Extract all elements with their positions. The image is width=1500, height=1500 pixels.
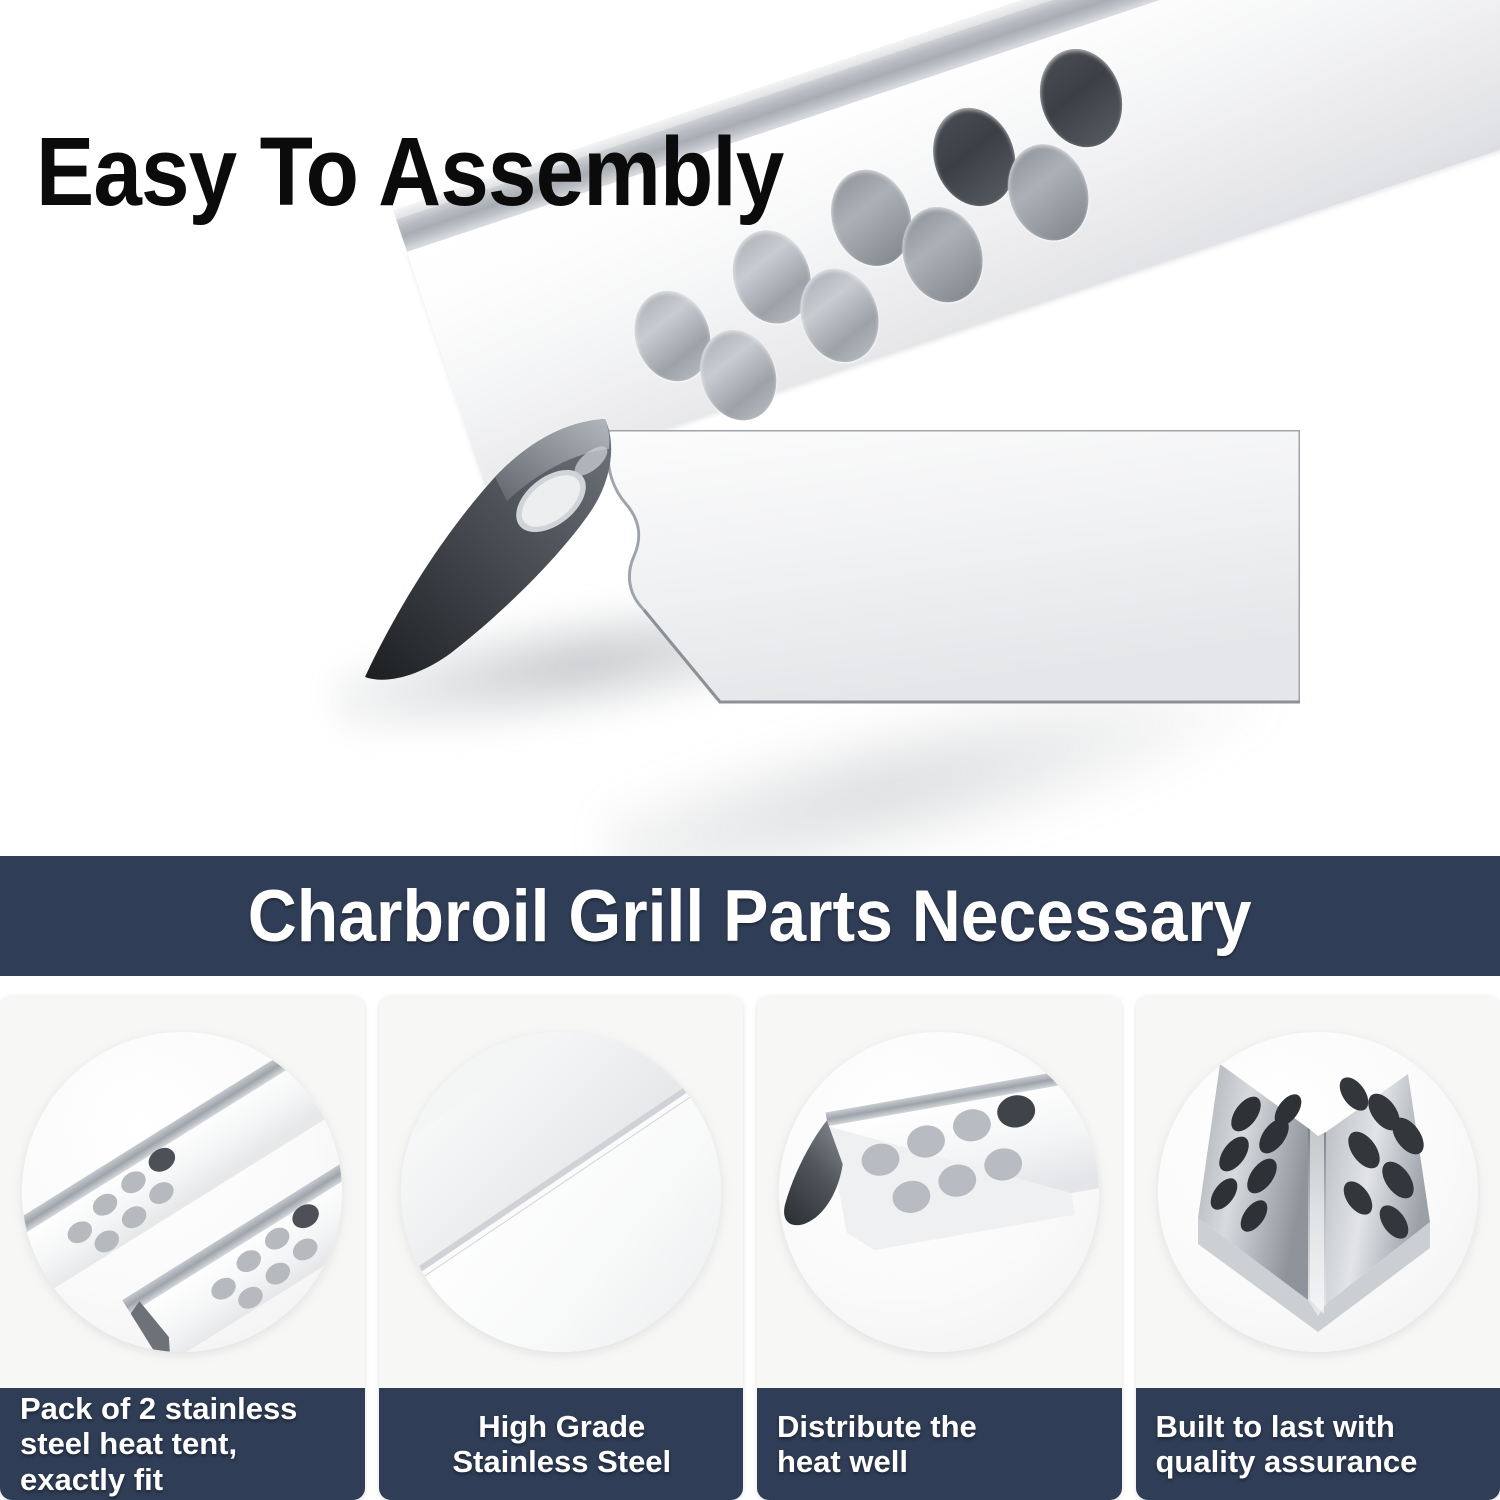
steel-surface-icon: [401, 1032, 721, 1352]
feature-card-1-caption-text: Pack of 2 stainless steel heat tent, exa…: [20, 1391, 297, 1497]
banner-text: Charbroil Grill Parts Necessary: [248, 880, 1252, 953]
feature-card-2-caption: High Grade Stainless Steel: [379, 1388, 744, 1500]
hero-section: Easy To Assembly: [0, 0, 1500, 856]
photo-circle: [22, 1032, 342, 1352]
feature-card-row: Pack of 2 stainless steel heat tent, exa…: [0, 996, 1500, 1500]
feature-card-4-caption-text: Built to last with quality assurance: [1156, 1409, 1418, 1480]
headline-banner: Charbroil Grill Parts Necessary: [0, 856, 1500, 976]
feature-card-3-caption-text: Distribute the heat well: [777, 1409, 977, 1480]
feature-card-4[interactable]: Built to last with quality assurance: [1136, 996, 1500, 1500]
tent-underside-v-icon: [1158, 1032, 1478, 1352]
feature-card-2-caption-text: High Grade Stainless Steel: [452, 1409, 671, 1480]
feature-card-4-photo: [1136, 996, 1500, 1388]
perforated-tent-end-icon: [779, 1032, 1099, 1352]
feature-card-3[interactable]: Distribute the heat well: [757, 996, 1122, 1500]
photo-circle: [401, 1032, 721, 1352]
photo-circle: [779, 1032, 1099, 1352]
feature-card-3-caption: Distribute the heat well: [757, 1388, 1122, 1500]
tent-tapered-tip: [355, 415, 665, 690]
page-title: Easy To Assembly: [36, 123, 783, 220]
tent-bottom-flange: [600, 430, 1300, 830]
feature-card-2[interactable]: High Grade Stainless Steel: [379, 996, 744, 1500]
feature-card-1[interactable]: Pack of 2 stainless steel heat tent, exa…: [0, 996, 365, 1500]
feature-card-1-photo: [0, 996, 365, 1388]
feature-card-3-photo: [757, 996, 1122, 1388]
feature-card-2-photo: [379, 996, 744, 1388]
photo-circle: [1158, 1032, 1478, 1352]
feature-card-1-caption: Pack of 2 stainless steel heat tent, exa…: [0, 1388, 365, 1500]
two-heat-tents-icon: [22, 1032, 342, 1352]
feature-card-4-caption: Built to last with quality assurance: [1136, 1388, 1500, 1500]
